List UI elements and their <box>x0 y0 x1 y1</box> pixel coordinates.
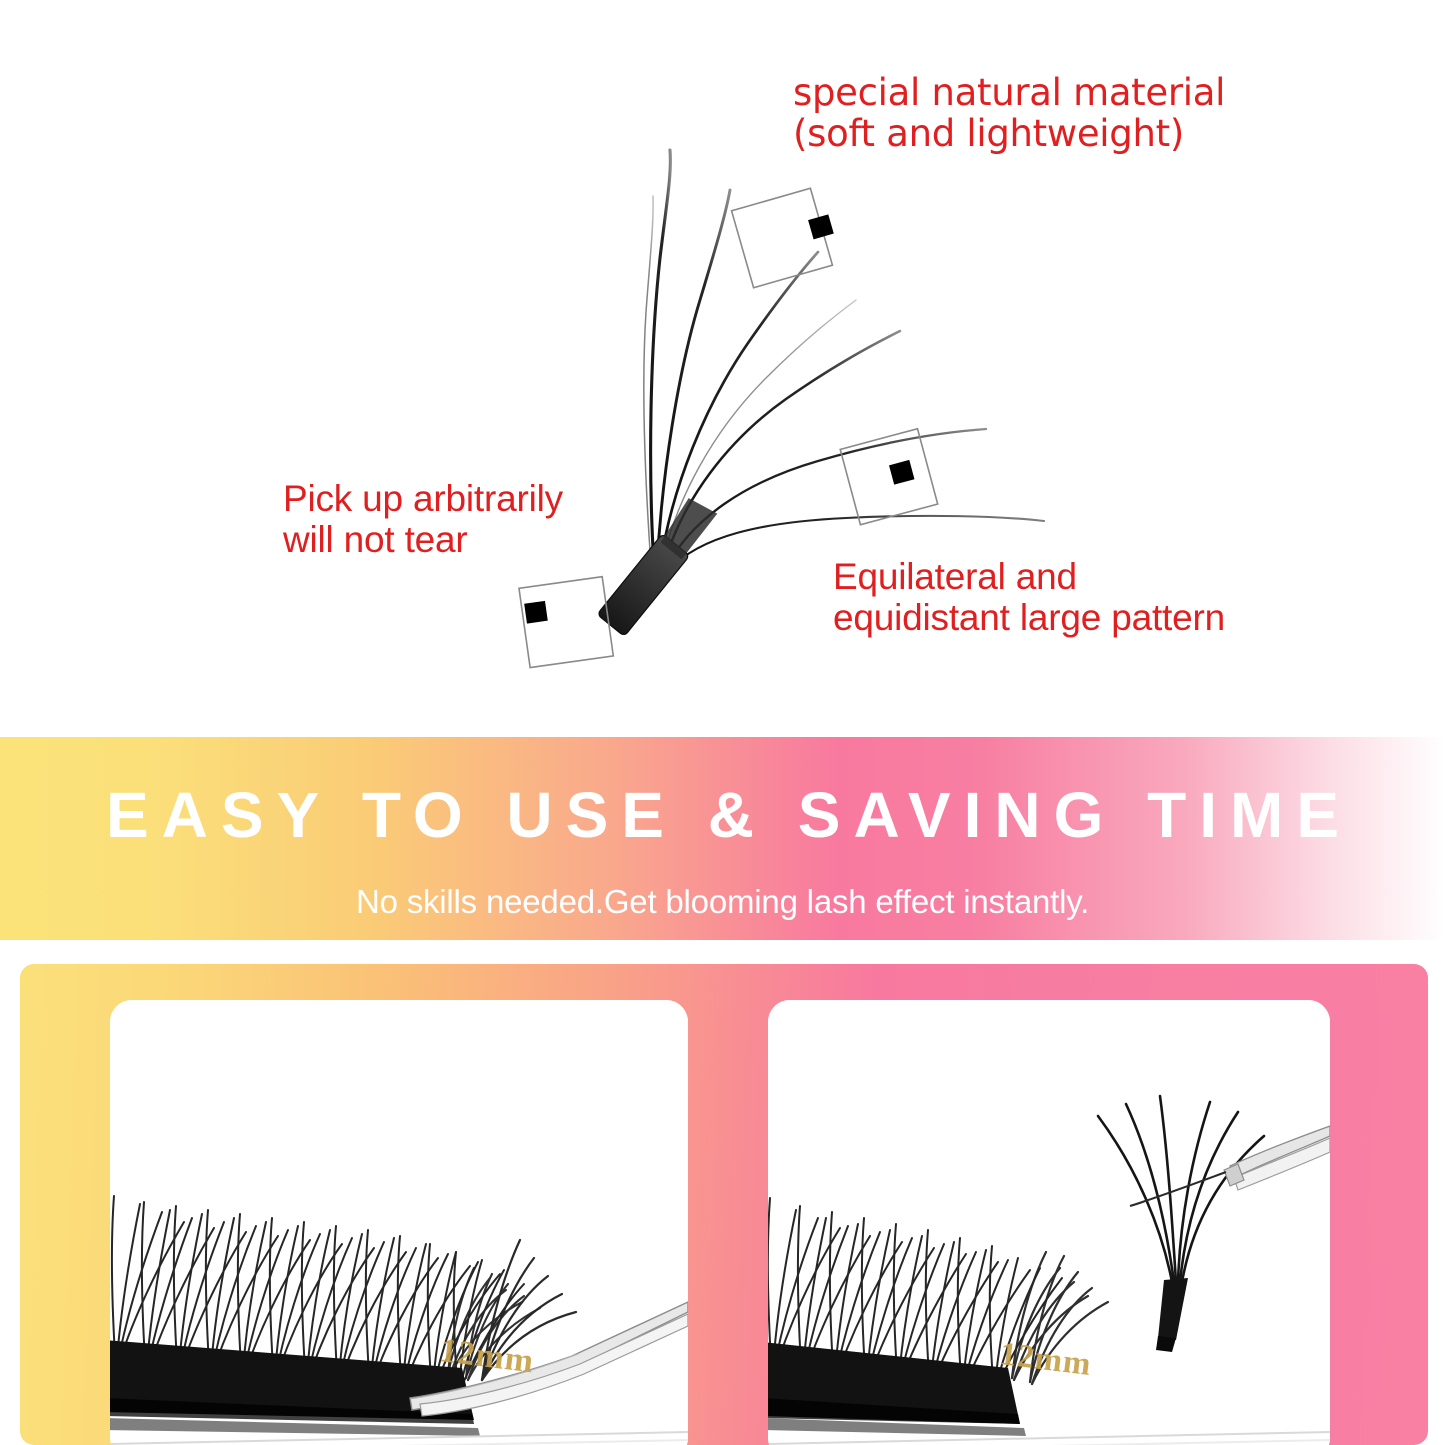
photo-card-fan-pickup: 12mm <box>768 1000 1330 1445</box>
promo-image-root: special natural material (soft and light… <box>0 0 1445 1445</box>
callout-marker-base <box>519 577 613 668</box>
banner-subtitle: No skills needed.Get blooming lash effec… <box>0 885 1445 918</box>
hero-diagram-section: special natural material (soft and light… <box>0 0 1445 737</box>
photo-gallery-panel: 12mm <box>20 964 1428 1445</box>
easy-to-use-banner: EASY TO USE & SAVING TIME No skills need… <box>0 737 1445 940</box>
callout-special-natural-material: special natural material (soft and light… <box>793 72 1225 155</box>
photo-card-tray-tweezers: 12mm <box>110 1000 688 1445</box>
callout-equilateral-equidistant: Equilateral and equidistant large patter… <box>833 556 1225 639</box>
banner-title: EASY TO USE & SAVING TIME <box>0 783 1445 847</box>
lash-fan-diagram <box>0 0 1445 737</box>
lash-base <box>596 493 722 636</box>
lash-tray-tweezers-photo <box>110 1000 688 1445</box>
callout-marker-top <box>732 185 842 287</box>
callout-pick-up-arbitrarily: Pick up arbitrarily will not tear <box>283 478 563 561</box>
